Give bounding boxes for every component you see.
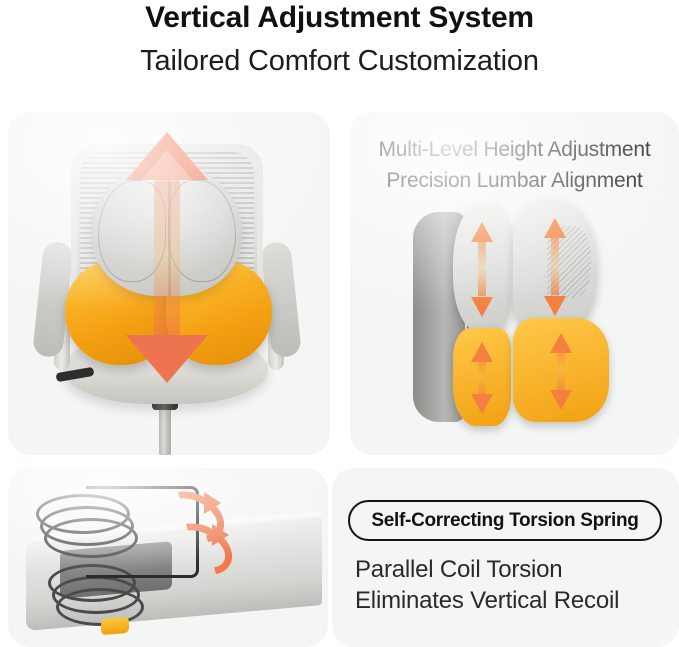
page-header: Vertical Adjustment System Tailored Comf… [0, 0, 679, 96]
pad-arrows-up-down-icon [453, 204, 511, 332]
torsion-coil-lower-3 [56, 588, 144, 626]
pad-arrows-up-down-icon [513, 318, 609, 422]
pad-arrow-stem [551, 237, 559, 295]
chair-illustration [8, 112, 330, 455]
lower-pad-right [513, 318, 609, 422]
pad-arrow-stem [478, 355, 486, 398]
panel-chair-illustration [8, 112, 330, 455]
pad-arrow-down [544, 296, 566, 316]
rotation-arrow-head [204, 492, 221, 514]
pads-caption-line-1: Multi-Level Height Adjustment [350, 134, 679, 165]
status-badge-label: Self-Correcting Torsion Spring [371, 510, 638, 532]
upper-pad-left [453, 204, 511, 332]
torsion-caption-line-1: Parallel Coil Torsion [355, 554, 675, 585]
pad-arrows-up-down-icon [513, 200, 597, 332]
pad-arrow-down [471, 297, 493, 317]
pad-arrow-stem [557, 347, 565, 393]
torsion-spring-illustration [8, 468, 328, 647]
status-badge: Self-Correcting Torsion Spring [348, 500, 662, 541]
pads-caption-block: Multi-Level Height Adjustment Precision … [350, 134, 679, 196]
backrest-pads-illustration [405, 200, 635, 440]
arrow-head-up-highlight [140, 150, 194, 182]
rotation-arrow-head [212, 524, 229, 546]
lower-pad-left [453, 328, 511, 426]
arrow-shaft [154, 178, 180, 338]
panel-torsion-spring-text: Self-Correcting Torsion Spring Parallel … [332, 468, 679, 647]
pads-caption-line-2: Precision Lumbar Alignment [350, 165, 679, 196]
page-title: Vertical Adjustment System [0, 0, 679, 36]
panel-torsion-spring-illustration [8, 468, 328, 647]
pad-arrows-up-down-icon [453, 328, 511, 426]
pad-arrow-up [544, 218, 566, 238]
arrow-head-down [126, 335, 208, 383]
pad-arrow-down [550, 390, 572, 410]
torsion-caption-line-2: Eliminates Vertical Recoil [355, 585, 675, 616]
page-subtitle: Tailored Comfort Customization [0, 43, 679, 79]
pad-arrow-down [471, 394, 493, 414]
release-tab [101, 617, 129, 635]
upper-pad-right [513, 200, 597, 332]
torsion-caption-block: Parallel Coil Torsion Eliminates Vertica… [355, 554, 675, 616]
pad-arrow-stem [478, 240, 486, 296]
panel-height-adjustment: Multi-Level Height Adjustment Precision … [350, 112, 679, 455]
vertical-double-arrow-icon [126, 128, 208, 383]
